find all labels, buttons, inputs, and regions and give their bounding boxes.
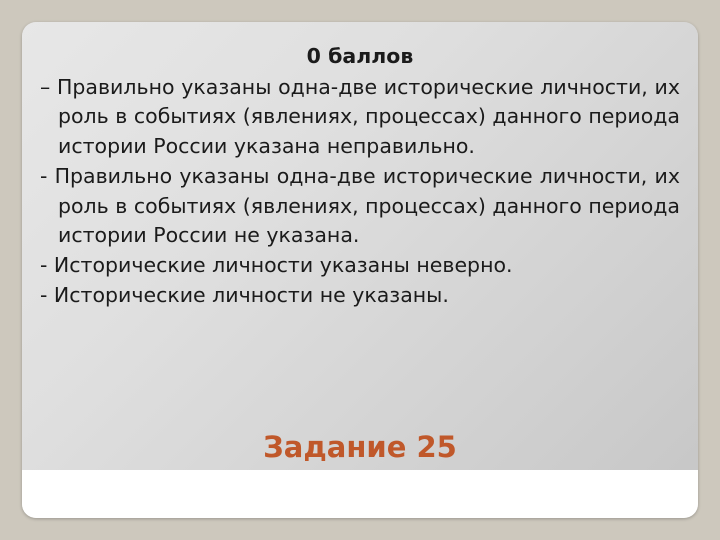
criterion-paragraph-4: - Исторические личности не указаны.: [40, 281, 680, 311]
slide-footer-strip: [22, 470, 698, 518]
criterion-paragraph-2: - Правильно указаны одна-две исторически…: [40, 162, 680, 251]
slide: 0 баллов – Правильно указаны одна-две ис…: [22, 22, 698, 518]
criterion-paragraph-1: – Правильно указаны одна-две исторически…: [40, 73, 680, 162]
slide-body: 0 баллов – Правильно указаны одна-две ис…: [40, 42, 680, 310]
criterion-paragraph-3: - Исторические личности указаны неверно.: [40, 251, 680, 281]
slide-heading: 0 баллов: [40, 42, 680, 72]
slide-content-area: 0 баллов – Правильно указаны одна-две ис…: [22, 22, 698, 518]
task-label: Задание 25: [22, 430, 698, 464]
